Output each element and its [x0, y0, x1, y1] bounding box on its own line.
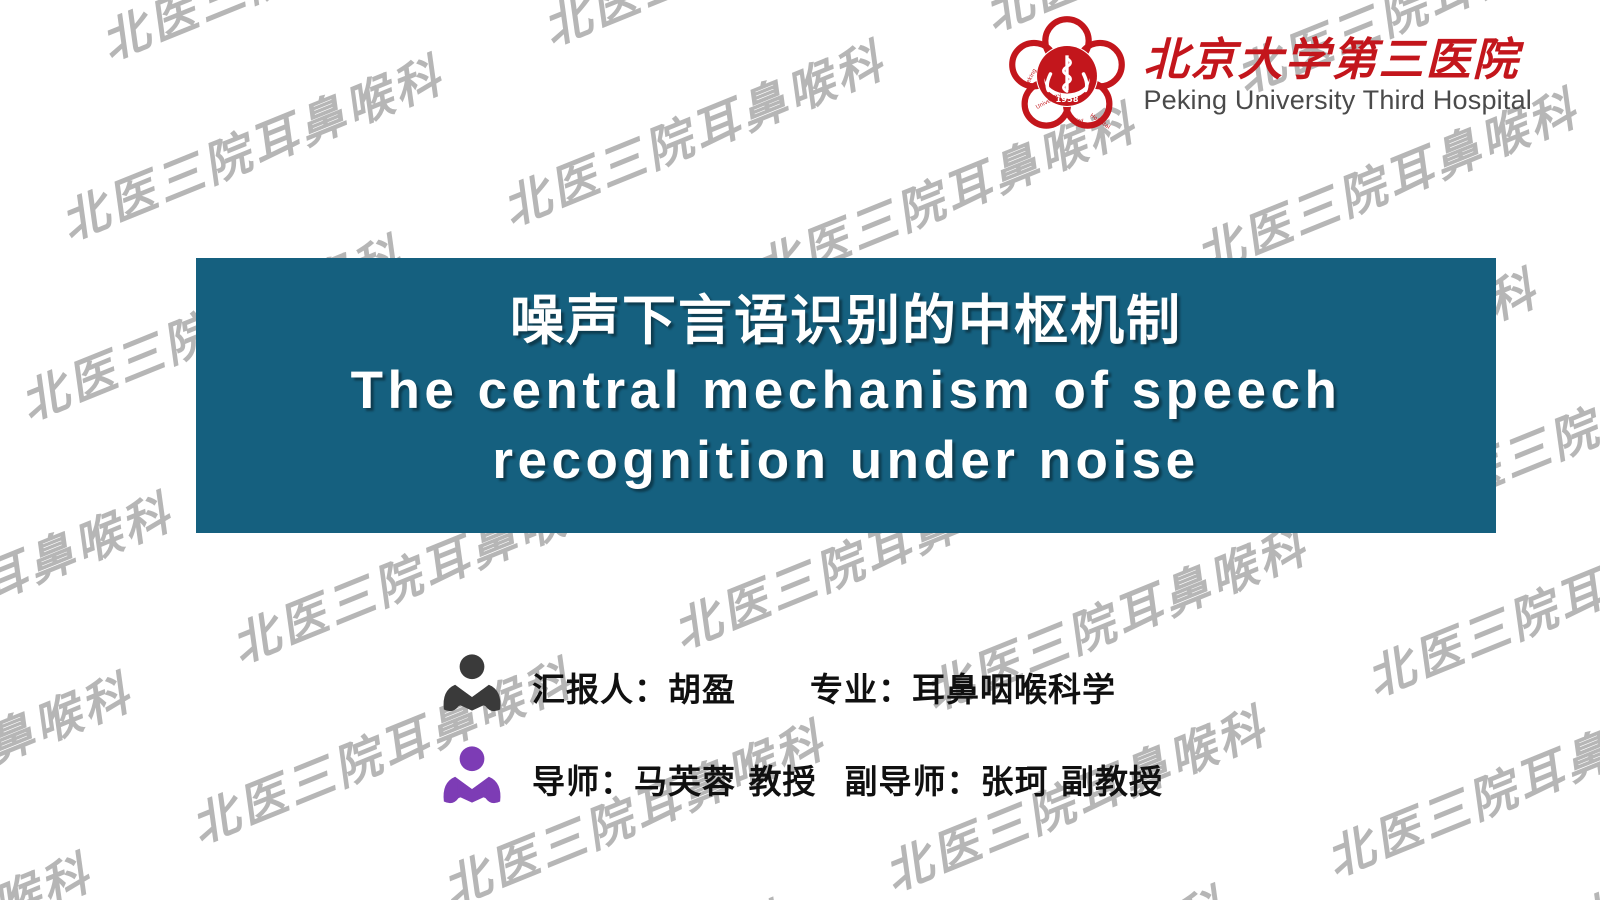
presenter-name: 胡盈 — [668, 663, 736, 711]
svg-text:Third: Third — [1068, 117, 1084, 125]
watermark-text: 北医三院耳鼻喉科 — [0, 51, 11, 268]
title-chinese: 噪声下言语识别的中枢机制 — [510, 289, 1182, 353]
watermark-text: 北医三院耳鼻喉科 — [490, 22, 894, 239]
watermark-text: 北医三院耳鼻喉科 — [89, 0, 493, 73]
hospital-name-cn: 北京大学第三医院 — [1143, 36, 1532, 83]
advisor-name: 马芙蓉 教授 — [634, 755, 817, 803]
title-slide: 北医三院耳鼻喉科 北医三院耳鼻喉科 北医三院耳鼻喉科 北医三院耳鼻喉科 北医三院… — [0, 0, 1600, 900]
major-value: 耳鼻咽喉科学 — [912, 663, 1116, 711]
watermark-text: 北医三院耳鼻喉科 — [1566, 735, 1600, 900]
reader-person-icon — [436, 743, 508, 815]
presenter-info-block: 汇报人： 胡盈 专业： 耳鼻咽喉科学 导师： 马芙蓉 教授 副导师： 张珂 副教… — [436, 650, 1163, 816]
hospital-logo-text: 北京大学第三医院 Peking University Third Hospita… — [1143, 36, 1532, 116]
title-english-line1: The central mechanism of speech — [351, 359, 1342, 424]
watermark-text: 北医三院耳鼻喉科 — [0, 834, 101, 900]
presenter-row: 汇报人： 胡盈 专业： 耳鼻咽喉科学 — [436, 650, 1163, 724]
hospital-emblem-icon: 1958 Peking University Third Hospital — [1005, 14, 1129, 138]
watermark-text: 北医三院耳鼻喉科 — [390, 882, 794, 900]
co-advisor-name: 张珂 副教授 — [981, 755, 1164, 803]
title-english-line2: recognition under noise — [492, 429, 1199, 494]
reader-person-icon — [436, 651, 508, 723]
watermark-text: 北医三院耳鼻喉科 — [0, 654, 141, 871]
major-label: 专业： — [810, 663, 912, 711]
presenter-fields: 汇报人： 胡盈 专业： 耳鼻咽喉科学 — [532, 663, 1116, 711]
presenter-label: 汇报人： — [532, 663, 668, 711]
advisor-label: 导师： — [532, 755, 634, 803]
title-band: 噪声下言语识别的中枢机制 The central mechanism of sp… — [196, 258, 1496, 533]
watermark-text: 北医三院耳鼻喉科 — [832, 867, 1236, 900]
watermark-text: 北医三院耳鼻喉科 — [0, 0, 241, 11]
watermark-text: 北医三院耳鼻喉科 — [0, 474, 182, 691]
advisor-fields: 导师： 马芙蓉 教授 副导师： 张珂 副教授 — [532, 755, 1163, 803]
hospital-logo: 1958 Peking University Third Hospital 北京… — [1005, 14, 1532, 138]
co-advisor-label: 副导师： — [845, 755, 981, 803]
watermark-text: 北医三院耳鼻喉科 — [531, 0, 935, 58]
watermark-text: 北医三院耳鼻喉科 — [0, 896, 353, 900]
watermark-text: 北医三院耳鼻喉科 — [48, 36, 452, 253]
watermark-text: 北医三院耳鼻喉科 — [1314, 673, 1600, 890]
advisor-row: 导师： 马芙蓉 教授 副导师： 张珂 副教授 — [436, 742, 1163, 816]
hospital-name-en: Peking University Third Hospital — [1143, 85, 1532, 116]
